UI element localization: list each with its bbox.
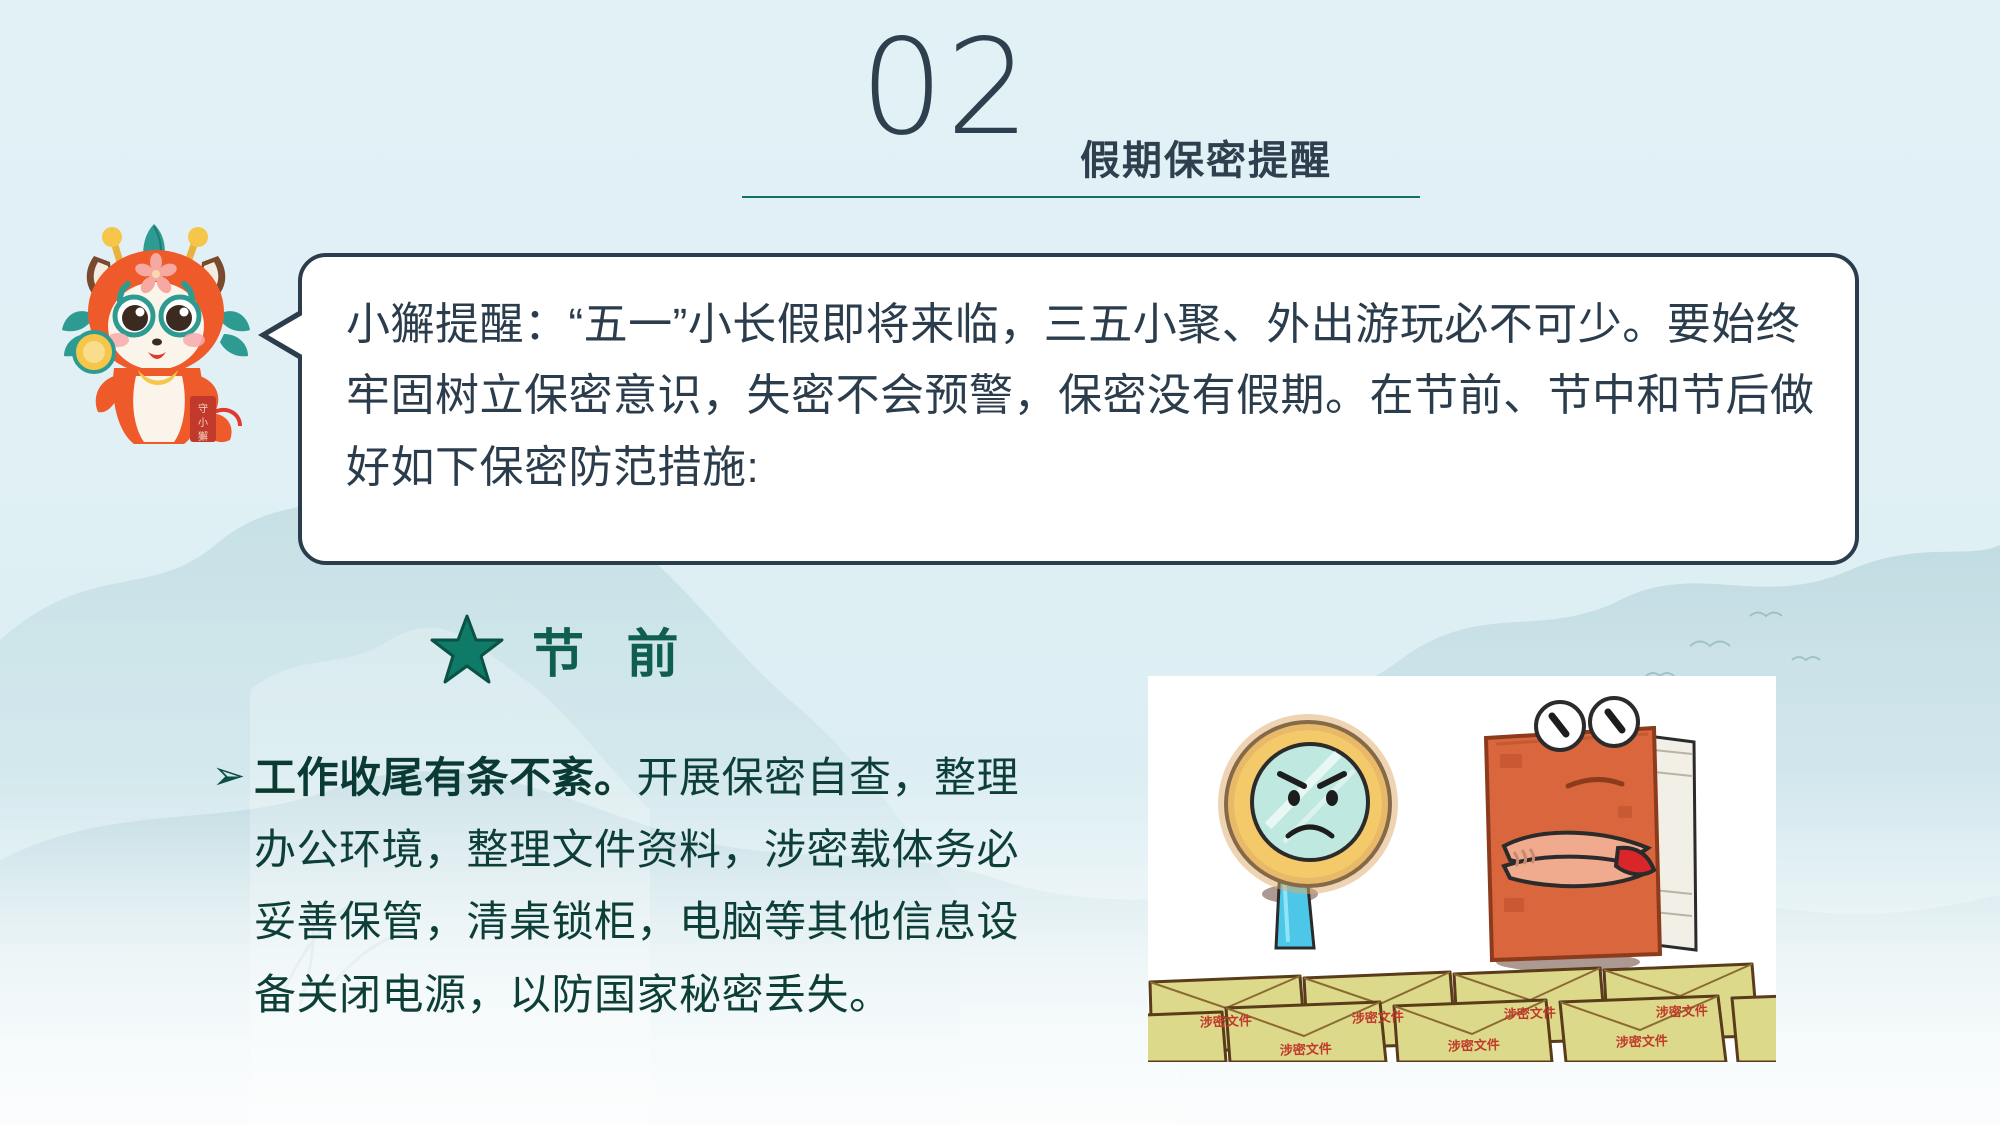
dragon-mascot-icon: 守 小 獬: [48, 200, 268, 450]
bullet-text: 工作收尾有条不紊。开展保密自查，整理办公环境，整理文件资料，涉密载体务必妥善保管…: [254, 742, 1042, 1031]
bullet-arrow-icon: ➢: [212, 742, 254, 811]
slide-header: 02 假期保密提醒: [0, 0, 2000, 220]
speech-bubble: 小獬提醒：“五一”小长假即将来临，三五小聚、外出游玩必不可少。要始终牢固树立保密…: [298, 253, 1859, 565]
svg-text:獬: 獬: [198, 430, 208, 443]
bullet-list: ➢ 工作收尾有条不紊。开展保密自查，整理办公环境，整理文件资料，涉密载体务必妥善…: [212, 742, 1042, 1031]
bubble-text: 小獬提醒：“五一”小长假即将来临，三五小聚、外出游玩必不可少。要始终牢固树立保密…: [346, 289, 1821, 503]
svg-text:涉密文件: 涉密文件: [1280, 1041, 1333, 1058]
section-subtitle: 假期保密提醒: [1080, 128, 1332, 186]
folder-character-icon: [1486, 698, 1696, 972]
svg-text:涉密文件: 涉密文件: [1616, 1033, 1669, 1050]
section-heading-label: 节 前: [532, 612, 692, 687]
svg-text:涉密文件: 涉密文件: [1200, 1013, 1253, 1030]
svg-text:涉密文件: 涉密文件: [1352, 1009, 1405, 1026]
svg-text:守: 守: [198, 402, 208, 415]
svg-text:涉密文件: 涉密文件: [1656, 1003, 1709, 1020]
section-number: 02: [860, 22, 1032, 154]
bubble-tail-fill: [268, 314, 304, 356]
header-divider: [742, 196, 1420, 198]
illustration-panel: 涉密文件 涉密文件 涉密文件 涉密文件 涉密文件 涉密文件 涉密文件: [1148, 676, 1776, 1062]
svg-text:涉密文件: 涉密文件: [1448, 1037, 1501, 1054]
svg-text:涉密文件: 涉密文件: [1504, 1005, 1557, 1022]
mascot-badge-text: 守 小 獬: [198, 402, 208, 443]
mascot-image: 守 小 獬: [48, 200, 268, 450]
bird-icons: [1646, 613, 1820, 677]
section-heading: 节 前: [430, 612, 692, 687]
secret-documents-cartoon-icon: 涉密文件 涉密文件 涉密文件 涉密文件 涉密文件 涉密文件 涉密文件: [1148, 676, 1776, 1062]
list-item: ➢ 工作收尾有条不紊。开展保密自查，整理办公环境，整理文件资料，涉密载体务必妥善…: [212, 742, 1042, 1031]
bullet-lead: 工作收尾有条不紊。: [254, 754, 637, 801]
slide-canvas: 02 假期保密提醒: [0, 0, 2000, 1125]
svg-text:小: 小: [198, 417, 208, 429]
star-icon: [430, 614, 504, 686]
